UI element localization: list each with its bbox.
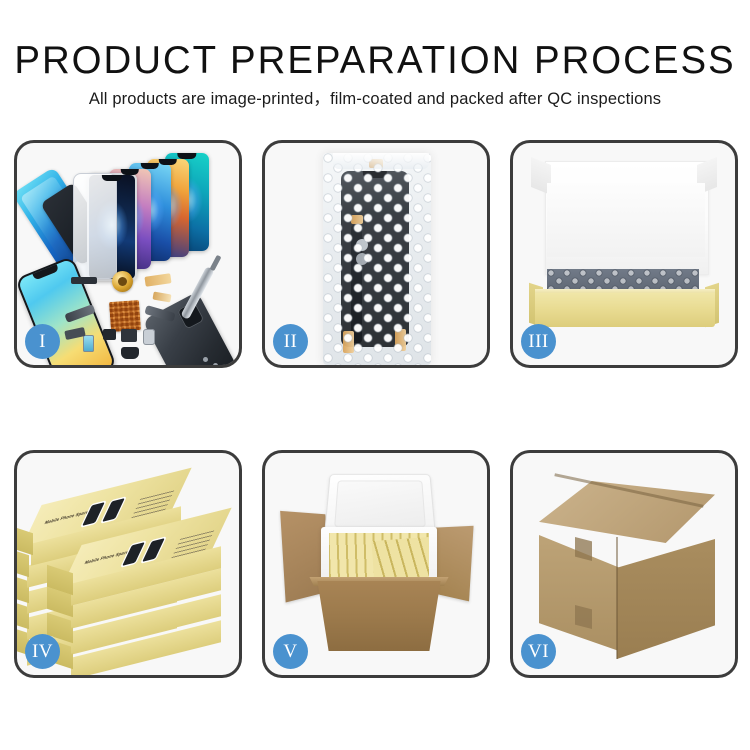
camera-module-icon [83, 335, 94, 352]
notch-icon [177, 153, 196, 159]
process-step-2: II [262, 140, 490, 368]
step-badge-4: IV [25, 634, 60, 669]
process-step-5: V [262, 450, 490, 678]
notch-icon [141, 163, 159, 169]
yellow-boxes-inside-icon [329, 533, 429, 581]
chip-component-icon [103, 329, 116, 340]
product-preparation-infographic: PRODUCT PREPARATION PROCESS All products… [0, 0, 750, 750]
box-edges-icon [371, 537, 429, 581]
process-step-6: VI [510, 450, 738, 678]
foam-pad-icon [547, 183, 705, 257]
process-step-4: Mobile Phone Spare Parts [14, 450, 242, 678]
bubble-texture-icon [323, 153, 431, 365]
box-stack-group: Mobile Phone Spare Parts [25, 471, 237, 667]
screw-icon [203, 357, 208, 362]
chip-component-icon [121, 329, 137, 342]
screw-icon [213, 363, 218, 368]
copper-shield-grid-icon [109, 300, 141, 332]
notch-icon [159, 159, 177, 165]
step-badge-3: III [521, 324, 556, 359]
notch-icon [121, 169, 139, 175]
bubble-wrap-bag-icon [323, 153, 431, 365]
step-badge-1: I [25, 324, 60, 359]
step-badge-6: VI [521, 634, 556, 669]
speaker-coil-icon [112, 271, 133, 292]
carton-body-icon [309, 581, 449, 651]
flex-cable-icon [144, 273, 171, 287]
battery-strip-icon [71, 277, 97, 284]
carton-vertical-edge-icon [616, 537, 618, 659]
taptic-engine-icon [121, 347, 139, 359]
step-badge-5: V [273, 634, 308, 669]
process-step-grid: I II [0, 0, 750, 750]
screen-protector-icon [73, 173, 117, 279]
sim-tray-icon [143, 329, 155, 345]
carton-right-face-icon [617, 539, 715, 659]
process-step-1: I [14, 140, 242, 368]
notch-icon [102, 175, 122, 181]
yellow-box-front-icon [535, 293, 715, 327]
step-badge-2: II [273, 324, 308, 359]
flex-cable-icon [152, 291, 171, 302]
bag-fold-icon [333, 153, 429, 169]
process-step-3: III [510, 140, 738, 368]
screw-icon [197, 367, 201, 368]
notch-icon [32, 264, 58, 280]
